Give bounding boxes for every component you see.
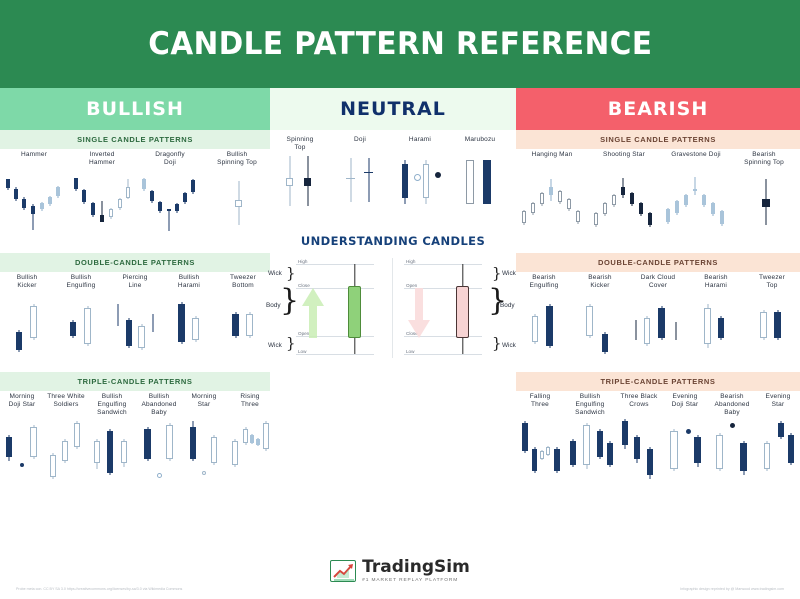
candle <box>126 296 132 358</box>
anatomy-candle <box>348 254 361 362</box>
candle <box>647 415 653 485</box>
candle <box>138 296 145 358</box>
candle <box>603 173 607 235</box>
candle-body <box>778 423 784 437</box>
bearish-single-header: SINGLE CANDLE PATTERNS <box>516 130 800 149</box>
candle <box>246 296 253 358</box>
candle <box>760 296 767 358</box>
candle-body <box>121 441 127 463</box>
candle-body <box>466 160 474 204</box>
candle-body <box>760 312 767 338</box>
candle-body <box>14 189 18 199</box>
candle-body <box>586 306 593 336</box>
brand-name: TradingSim <box>362 559 470 576</box>
candle <box>94 415 100 485</box>
candle-body <box>546 447 550 455</box>
pattern-label: MorningDoji Star <box>0 391 44 415</box>
candle-body <box>740 443 747 471</box>
pattern-illustration <box>390 152 450 212</box>
candle-body <box>522 423 528 451</box>
candle <box>74 173 78 235</box>
candle <box>423 152 429 212</box>
pattern-cell: BullishEngulfingSandwich <box>88 391 136 485</box>
bullish-triple-grid: MorningDoji StarThree WhiteSoldiersBulli… <box>0 391 270 485</box>
pattern-label: FallingThree <box>516 391 564 415</box>
level-line <box>296 264 374 265</box>
candle <box>22 173 26 235</box>
doji-candle <box>346 152 355 212</box>
candle <box>693 173 697 235</box>
bullish-double-grid: BullishKickerBullishEngulfingPiercingLin… <box>0 272 270 358</box>
candle <box>178 296 185 358</box>
candle <box>546 296 553 358</box>
pattern-label: BearishSpinning Top <box>732 149 796 173</box>
pattern-illustration <box>54 296 108 358</box>
doji-candle <box>364 152 373 212</box>
column-bearish: SINGLE CANDLE PATTERNS Hanging ManShooti… <box>516 130 800 485</box>
candle-body <box>232 314 239 336</box>
label-body: Body <box>500 302 515 309</box>
diagram-divider <box>392 258 393 358</box>
candle <box>250 415 254 485</box>
candle-body <box>594 213 598 225</box>
candle <box>540 415 544 485</box>
column-neutral: SpinningTopDojiHaramiMarubozu UNDERSTAND… <box>270 130 516 362</box>
candle-body <box>126 187 130 198</box>
anatomy-body <box>456 286 469 338</box>
pattern-label: TweezerBottom <box>216 272 270 296</box>
marker-dot <box>686 429 691 434</box>
candle-body <box>540 193 544 204</box>
candle-body <box>190 427 196 459</box>
candle <box>118 173 122 235</box>
candle <box>14 173 18 235</box>
pattern-label: BullishSpinning Top <box>204 149 270 173</box>
brace-body: } <box>280 286 299 316</box>
candle <box>583 415 590 485</box>
marker-dot <box>20 463 24 467</box>
bullish-single-grid: HammerInvertedHammerDragonflyDojiBullish… <box>0 149 270 235</box>
candle-body <box>138 326 145 348</box>
pattern-cell: BullishAbandonedBaby <box>136 391 182 485</box>
pattern-illustration <box>330 152 390 212</box>
candle <box>232 296 239 358</box>
pattern-label: BullishKicker <box>0 272 54 296</box>
candle <box>704 296 711 358</box>
candle-body <box>100 215 104 222</box>
candle <box>56 173 60 235</box>
candle <box>466 152 474 212</box>
candle-body <box>30 427 37 457</box>
candle <box>16 296 22 358</box>
candle <box>576 173 580 235</box>
candle-body <box>16 332 22 350</box>
pattern-illustration <box>516 173 588 235</box>
marker-dot <box>730 423 735 428</box>
candle <box>235 173 242 235</box>
pattern-cell: MorningStar <box>182 391 226 485</box>
bearish-double-grid: BearishEngulfingBearishKickerDark CloudC… <box>516 272 800 358</box>
doji-wick <box>350 158 351 202</box>
candle-wick <box>168 209 169 231</box>
candle <box>648 173 652 235</box>
candle <box>716 415 723 485</box>
pattern-illustration <box>182 415 226 485</box>
level-label: High <box>298 259 307 264</box>
brace-body: } <box>488 286 507 316</box>
pattern-label: Hanging Man <box>516 149 588 173</box>
candle-body <box>256 439 260 445</box>
pattern-label: BullishHarami <box>162 272 216 296</box>
candle-body <box>107 431 113 473</box>
candle-body <box>402 164 408 198</box>
pattern-illustration <box>0 415 44 485</box>
candle <box>116 296 119 358</box>
pattern-cell: TweezerTop <box>744 272 800 358</box>
candle-body <box>82 190 86 202</box>
pattern-illustration <box>662 415 708 485</box>
candle <box>674 296 677 358</box>
brand-logo: TradingSim #1 MARKET REPLAY PLATFORM <box>0 557 800 583</box>
title-band: CANDLE PATTERN REFERENCE <box>0 0 800 88</box>
candle <box>82 173 86 235</box>
candle <box>263 415 269 485</box>
candle <box>256 415 260 485</box>
candle-body <box>532 316 538 342</box>
brace-upper-wick: } <box>492 266 502 281</box>
brand-text: TradingSim #1 MARKET REPLAY PLATFORM <box>362 559 470 583</box>
label-upper-wick: Wick <box>268 270 282 277</box>
pattern-label: DragonflyDoji <box>136 149 204 173</box>
candle-body <box>94 441 100 463</box>
candle-body <box>211 437 217 463</box>
candle <box>607 415 613 485</box>
candle <box>74 415 80 485</box>
candle-body <box>56 187 60 196</box>
level-line <box>404 354 482 355</box>
pattern-cell: Three BlackCrows <box>616 391 662 485</box>
pattern-label: BullishAbandonedBaby <box>136 391 182 415</box>
candle-body <box>40 203 44 209</box>
pattern-illustration <box>516 296 572 358</box>
candle <box>666 173 670 235</box>
candle-body <box>250 435 254 443</box>
credit-left: Probe meta con. CC BY SA 3.0 https://cre… <box>16 587 182 591</box>
marker-dot <box>157 473 162 478</box>
label-body: Body <box>266 302 281 309</box>
candle <box>622 415 628 485</box>
candle <box>126 173 130 235</box>
candle <box>522 415 528 485</box>
candle-body <box>6 179 10 188</box>
candle-body <box>576 211 580 222</box>
candle-body <box>570 441 576 465</box>
pattern-cell: BearishEngulfing <box>516 272 572 358</box>
pattern-illustration <box>450 152 510 212</box>
candle <box>70 296 76 358</box>
candle-body <box>243 429 248 443</box>
pattern-cell: BearishHarami <box>688 272 744 358</box>
candle-body <box>644 318 650 344</box>
candle-body <box>144 429 151 459</box>
candle <box>40 173 44 235</box>
candle-body <box>583 425 590 465</box>
candle-body <box>764 443 770 469</box>
candle-body <box>118 199 122 208</box>
candle-body <box>540 451 544 459</box>
candle-body <box>788 435 794 463</box>
candle <box>675 173 679 235</box>
candle-body <box>175 204 179 211</box>
candle <box>558 173 562 235</box>
pattern-illustration <box>516 415 564 485</box>
pattern-illustration <box>0 173 68 235</box>
candle-body <box>658 308 665 338</box>
neutral-single-grid: SpinningTopDojiHaramiMarubozu <box>270 134 516 212</box>
pattern-cell: Dark CloudCover <box>628 272 688 358</box>
pattern-label: BearishKicker <box>572 272 628 296</box>
pattern-label: Harami <box>390 134 450 152</box>
marker-dot <box>435 172 441 178</box>
level-line <box>404 264 482 265</box>
pattern-illustration <box>88 415 136 485</box>
candle <box>702 173 706 235</box>
candle <box>630 173 634 235</box>
candle-body <box>675 201 679 213</box>
candle <box>644 296 650 358</box>
candle <box>144 415 151 485</box>
brace-lower-wick: } <box>286 336 296 351</box>
candle <box>621 173 625 235</box>
candle <box>764 415 770 485</box>
brace-upper-wick: } <box>286 266 296 281</box>
page-title: CANDLE PATTERN REFERENCE <box>148 26 652 62</box>
pattern-cell: Harami <box>390 134 450 212</box>
candle-body <box>232 441 238 465</box>
pattern-cell: Gravestone Doji <box>660 149 732 235</box>
candle-body <box>711 203 715 214</box>
candle <box>107 415 113 485</box>
candle-body <box>546 306 553 346</box>
candle-body <box>246 314 253 336</box>
candle <box>586 296 593 358</box>
candle <box>6 415 12 485</box>
pattern-illustration <box>0 296 54 358</box>
candle <box>540 173 544 235</box>
pattern-illustration <box>226 415 274 485</box>
pattern-label: BearishAbandonedBaby <box>708 391 756 415</box>
candle-body <box>704 308 711 344</box>
candle-anatomy-bullish: HighCloseOpenLow}}}WickBodyWick <box>274 254 392 362</box>
candle <box>109 173 113 235</box>
pattern-cell: BearishSpinning Top <box>732 149 796 235</box>
pattern-cell: Hammer <box>0 149 68 235</box>
pattern-label: Hammer <box>0 149 68 173</box>
pattern-cell: BullishEngulfing <box>54 272 108 358</box>
candle <box>594 173 598 235</box>
pattern-cell: MorningDoji Star <box>0 391 44 485</box>
understanding-candles-diagram: HighCloseOpenLow}}}WickBodyWickHighOpenC… <box>270 254 516 362</box>
candle <box>142 173 146 235</box>
candle-body <box>84 308 91 344</box>
candle <box>190 415 196 485</box>
candle <box>546 415 550 485</box>
doji-wick <box>368 158 369 202</box>
candle-body <box>647 449 653 475</box>
pattern-illustration <box>756 415 800 485</box>
candle <box>211 415 217 485</box>
pattern-label: SpinningTop <box>270 134 330 152</box>
up-arrow-icon <box>300 286 326 345</box>
candle-body <box>31 206 35 214</box>
candle-body <box>648 213 652 225</box>
candle-body <box>531 203 535 213</box>
candle-body <box>622 421 628 445</box>
pattern-label: BearishEngulfing <box>516 272 572 296</box>
candle-body <box>74 423 80 447</box>
pattern-illustration <box>136 415 182 485</box>
candle-body <box>235 200 242 207</box>
pattern-illustration <box>216 296 270 358</box>
mood-band-row: BULLISH NEUTRAL BEARISH <box>0 88 800 130</box>
candle-body <box>621 187 625 195</box>
candle <box>522 173 526 235</box>
candle-body <box>702 195 706 205</box>
pattern-cell: BullishHarami <box>162 272 216 358</box>
pattern-cell: EveningStar <box>756 391 800 485</box>
candle <box>711 173 715 235</box>
candle-body <box>694 437 701 463</box>
candle-anatomy-bearish: HighOpenCloseLow}}}WickBodyWick <box>396 254 514 362</box>
doji-crossbar <box>346 178 355 179</box>
candle-body <box>549 187 553 195</box>
candle-body <box>558 191 562 202</box>
candle <box>483 152 491 212</box>
candle-body <box>22 199 26 208</box>
pattern-cell: EveningDoji Star <box>662 391 708 485</box>
pattern-cell: SpinningTop <box>270 134 330 212</box>
marker-dot <box>414 174 421 181</box>
candle <box>192 296 199 358</box>
pattern-cell: PiercingLine <box>108 272 162 358</box>
understanding-candles-title: UNDERSTANDING CANDLES <box>270 234 516 248</box>
candle-body <box>607 443 613 465</box>
pattern-illustration <box>572 296 628 358</box>
chart-arrow-icon <box>330 560 356 582</box>
candle <box>166 415 173 485</box>
candle <box>402 152 408 212</box>
pattern-label: PiercingLine <box>108 272 162 296</box>
candle-body <box>263 423 269 449</box>
candle <box>658 296 665 358</box>
pattern-label: Dark CloudCover <box>628 272 688 296</box>
pattern-cell: Marubozu <box>450 134 510 212</box>
bearish-triple-header: TRIPLE-CANDLE PATTERNS <box>516 372 800 391</box>
mood-band-bearish: BEARISH <box>516 88 800 130</box>
candle <box>762 173 770 235</box>
bearish-double-header: DOUBLE-CANDLE PATTERNS <box>516 253 800 272</box>
pattern-illustration <box>162 296 216 358</box>
pattern-illustration <box>660 173 732 235</box>
candle <box>694 415 701 485</box>
pattern-illustration <box>564 415 616 485</box>
candle-body <box>74 178 78 189</box>
candle <box>532 415 537 485</box>
candle <box>6 173 10 235</box>
anatomy-candle <box>456 254 469 362</box>
footer: TradingSim #1 MARKET REPLAY PLATFORM Pro… <box>0 557 800 599</box>
candle-body <box>774 312 781 338</box>
pattern-label: RisingThree <box>226 391 274 415</box>
pattern-cell: RisingThree <box>226 391 274 485</box>
candle <box>549 173 553 235</box>
pattern-label: EveningDoji Star <box>662 391 708 415</box>
pattern-illustration <box>204 173 270 235</box>
pattern-cell: FallingThree <box>516 391 564 485</box>
candle <box>167 173 171 235</box>
level-label: High <box>406 259 415 264</box>
candle-body <box>634 437 640 459</box>
candle <box>634 415 640 485</box>
candle-body <box>716 435 723 469</box>
pattern-cell: Hanging Man <box>516 149 588 235</box>
candle <box>100 173 104 235</box>
candle-body <box>30 306 37 338</box>
doji-crossbar <box>364 172 373 173</box>
candle-body <box>158 202 162 211</box>
candle-body <box>684 195 688 205</box>
candle-wick <box>695 177 696 195</box>
candle-body <box>630 193 634 204</box>
bullish-single-header: SINGLE CANDLE PATTERNS <box>0 130 270 149</box>
candle <box>612 173 616 235</box>
pattern-label: Gravestone Doji <box>660 149 732 173</box>
candle <box>532 296 538 358</box>
candle-body <box>597 431 603 457</box>
candle-wick <box>152 314 153 332</box>
label-upper-wick: Wick <box>502 270 516 277</box>
anatomy-body <box>348 286 361 338</box>
pattern-illustration <box>744 296 800 358</box>
pattern-illustration <box>688 296 744 358</box>
column-bullish: SINGLE CANDLE PATTERNS HammerInvertedHam… <box>0 130 270 485</box>
pattern-board: SINGLE CANDLE PATTERNS HammerInvertedHam… <box>0 130 800 599</box>
candle <box>151 296 154 358</box>
pattern-label: BearishHarami <box>688 272 744 296</box>
candle-body <box>62 441 68 461</box>
pattern-label: InvertedHammer <box>68 149 136 173</box>
pattern-illustration <box>628 296 688 358</box>
pattern-illustration <box>68 173 136 235</box>
pattern-illustration <box>616 415 662 485</box>
candle <box>30 415 37 485</box>
mood-band-neutral: NEUTRAL <box>270 88 516 130</box>
candle <box>570 415 576 485</box>
candle-wick <box>635 320 636 340</box>
candle <box>740 415 747 485</box>
candle-body <box>720 211 724 224</box>
candle-body <box>167 209 171 211</box>
candle <box>150 173 154 235</box>
candle-body <box>423 164 429 198</box>
candle-body <box>612 195 616 205</box>
candle <box>778 415 784 485</box>
candle-body <box>48 197 52 204</box>
candle <box>30 296 37 358</box>
candle-body <box>183 193 187 202</box>
candle <box>232 415 238 485</box>
pattern-cell: Doji <box>330 134 390 212</box>
